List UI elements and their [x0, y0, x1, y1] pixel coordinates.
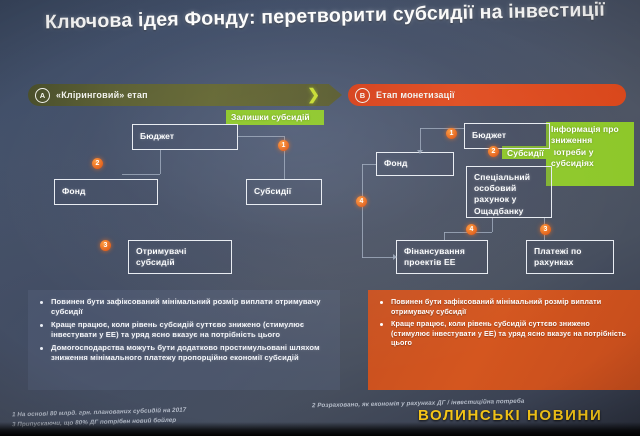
- section-b-monetization-stage: B Етап монетизації Інформація про знижен…: [348, 84, 636, 304]
- chevron-right-icon: ❯: [307, 88, 320, 103]
- list-item: Повинен бути зафіксований мінімальний ро…: [36, 297, 330, 317]
- callout-remainder-subsidies: Залишки субсидій: [226, 110, 324, 125]
- section-a-badge: A: [35, 88, 50, 103]
- connector-budget-down: [160, 150, 161, 174]
- notes-list-left: Повинен бути зафіксований мінімальний ро…: [36, 297, 330, 364]
- connector-to-ee: [362, 257, 396, 258]
- step-marker-4-b-left: 4: [356, 196, 367, 207]
- section-b-header: B Етап монетизації: [348, 84, 626, 106]
- node-subsidies-a: Субсидії: [246, 179, 322, 205]
- node-budget-a: Бюджет: [132, 124, 238, 150]
- step-marker-4-b-mid: 4: [466, 224, 477, 235]
- photo-dark-band: [0, 422, 640, 436]
- connector-budget-subsidies: [238, 136, 284, 137]
- list-item: Повинен бути зафіксований мінімальний ро…: [376, 297, 630, 316]
- connector-fund-ee: [362, 164, 363, 258]
- node-special-account: Спеціальний особовий рахунок у Ощадбанку: [466, 166, 552, 218]
- node-budget-b: Бюджет: [464, 123, 550, 149]
- section-b-label: Етап монетизації: [376, 90, 455, 100]
- step-marker-1-a: 1: [278, 140, 289, 151]
- list-item: Краще працює, коли рівень субсидій суттє…: [36, 320, 330, 340]
- connector-budget-fund: [122, 174, 160, 175]
- step-marker-2-b: 2: [488, 146, 499, 157]
- callout-info-reduced-need: Інформація про зниження потреби у субсид…: [546, 122, 634, 186]
- step-marker-3-b: 3: [540, 224, 551, 235]
- section-b-badge: B: [355, 88, 370, 103]
- notes-panel-left: Повинен бути зафіксований мінімальний ро…: [28, 290, 340, 390]
- arrow-head-ee: [393, 254, 397, 260]
- connector-acct-down: [492, 218, 493, 232]
- notes-list-right: Повинен бути зафіксований мінімальний ро…: [376, 297, 630, 348]
- watermark: ВОЛИНСЬКІ НОВИНИ: [418, 407, 602, 424]
- presentation-slide: Ключова ідея Фонду: перетворити субсидії…: [0, 0, 640, 436]
- step-marker-2-a: 2: [92, 158, 103, 169]
- notes-panel-right: Повинен бути зафіксований мінімальний ро…: [368, 290, 640, 390]
- page-title: Ключова ідея Фонду: перетворити субсидії…: [40, 0, 610, 35]
- node-fund-b: Фонд: [376, 152, 454, 176]
- section-a-clearing-stage: A «Кліринговий» етап ❯ Залишки субсидій …: [28, 84, 338, 304]
- section-a-label: «Кліринговий» етап: [56, 90, 148, 100]
- node-fund-a: Фонд: [54, 179, 158, 205]
- step-marker-3-a: 3: [100, 240, 111, 251]
- list-item: Домогосподарства можуть бути додатково п…: [36, 343, 330, 363]
- list-item: Краще працює, коли рівень субсидій суттє…: [376, 319, 630, 348]
- connector-budget-fund-b: [420, 128, 421, 152]
- arrow-head-fund: [417, 150, 423, 154]
- node-recipients-a: Отримувачі субсидій: [128, 240, 232, 274]
- step-marker-1-b: 1: [446, 128, 457, 139]
- node-ee-financing: Фінансування проектів ЕЕ: [396, 240, 488, 274]
- connector-fund-left: [362, 164, 376, 165]
- connector-budget-in: [420, 128, 464, 129]
- connector-acct-ee-down: [444, 232, 445, 240]
- node-account-payments: Платежі по рахунках: [526, 240, 614, 274]
- section-a-header: A «Кліринговий» етап ❯: [28, 84, 326, 106]
